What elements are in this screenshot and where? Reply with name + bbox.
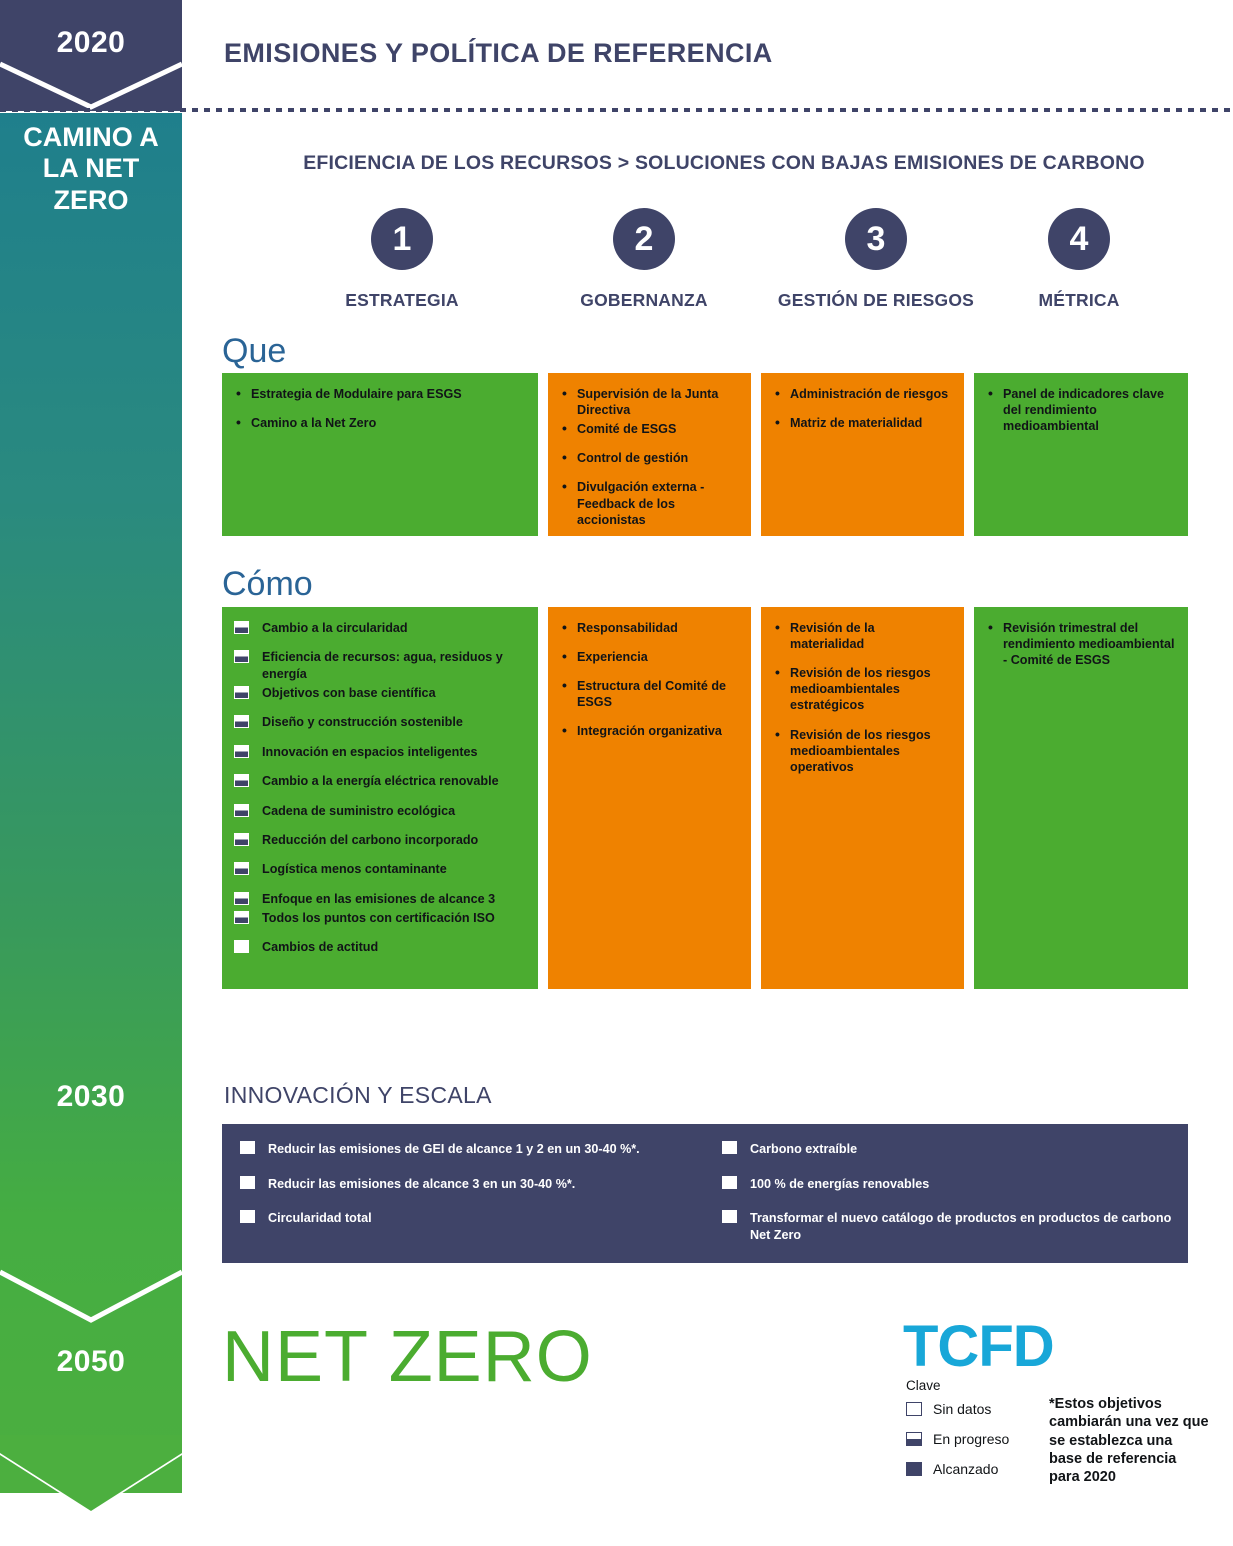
rail-title-line-1: CAMINO A xyxy=(0,122,182,153)
list-item-label: Eficiencia de recursos: agua, residuos y… xyxy=(262,650,503,680)
innovacion-list-left: Reducir las emisiones de GEI de alcance … xyxy=(240,1141,700,1227)
innovacion-column-right: Carbono extraíble 100 % de energías reno… xyxy=(722,1141,1172,1261)
list-item: Revisión de los riesgos medioambientales… xyxy=(773,727,952,775)
pillar-4-label: MÉTRICA xyxy=(997,290,1161,311)
list-item: 100 % de energías renovables xyxy=(722,1176,1172,1193)
list-item: Transformar el nuevo catálogo de product… xyxy=(722,1210,1172,1243)
pillar-3-number: 3 xyxy=(845,208,907,270)
list-item-label: Objetivos con base científica xyxy=(262,686,436,700)
checkbox-in-progress-icon xyxy=(234,774,249,787)
checkbox-no-data-icon xyxy=(906,1402,922,1416)
que-card-gestion-riesgos-list: Administración de riesgos Matriz de mate… xyxy=(773,386,952,431)
legend-row-alcanzado: Alcanzado xyxy=(906,1460,1036,1478)
timeline-rail: 2020 CAMINO A LA NET ZERO 2030 2050 xyxy=(0,0,182,1546)
list-item-label: Circularidad total xyxy=(268,1211,372,1225)
list-item-label: Enfoque en las emisiones de alcance 3 xyxy=(262,892,495,906)
legend-title: Clave xyxy=(906,1378,1036,1393)
pillar-3: 3 GESTIÓN DE RIESGOS xyxy=(771,208,981,311)
page-title: EMISIONES Y POLÍTICA DE REFERENCIA xyxy=(224,38,773,69)
net-zero-wordmark: NET ZERO xyxy=(222,1316,593,1398)
checkbox-in-progress-icon xyxy=(234,833,249,846)
checkbox-no-data-icon xyxy=(234,940,249,953)
list-item: Revisión de la materialidad xyxy=(773,620,952,652)
list-item-label: Cambios de actitud xyxy=(262,940,378,954)
pillar-1: 1 ESTRATEGIA xyxy=(320,208,484,311)
checkbox-no-data-icon xyxy=(240,1210,255,1223)
list-item-label: Todos los puntos con certificación ISO xyxy=(262,911,495,925)
pillar-3-label: GESTIÓN DE RIESGOS xyxy=(771,290,981,311)
rail-title-line-2: LA NET xyxy=(0,153,182,184)
list-item: Revisión de los riesgos medioambientales… xyxy=(773,665,952,713)
list-item: Supervisión de la Junta Directiva xyxy=(560,386,739,418)
list-item: Integración organizativa xyxy=(560,723,739,739)
checkbox-in-progress-icon xyxy=(906,1432,922,1446)
list-item: Reducir las emisiones de alcance 3 en un… xyxy=(240,1176,700,1193)
que-card-metrica: Panel de indicadores clave del rendimien… xyxy=(974,373,1188,536)
list-item: Objetivos con base científica xyxy=(234,685,526,701)
timeline-year-2050: 2050 xyxy=(0,1345,182,1379)
checkbox-no-data-icon xyxy=(240,1141,255,1154)
legend-label: Alcanzado xyxy=(933,1461,998,1477)
pillar-4: 4 MÉTRICA xyxy=(997,208,1161,311)
checkbox-no-data-icon xyxy=(722,1210,737,1223)
list-item-label: Carbono extraíble xyxy=(750,1142,857,1156)
list-item: Carbono extraíble xyxy=(722,1141,1172,1158)
checkbox-in-progress-icon xyxy=(234,745,249,758)
legend: Clave Sin datos En progreso Alcanzado xyxy=(906,1378,1036,1490)
pillar-1-label: ESTRATEGIA xyxy=(320,290,484,311)
checkbox-in-progress-icon xyxy=(234,650,249,663)
rail-arrow-tip xyxy=(0,1435,182,1545)
list-item-label: Cadena de suministro ecológica xyxy=(262,804,455,818)
timeline-year-2020: 2020 xyxy=(0,26,182,60)
list-item: Logística menos contaminante xyxy=(234,861,526,877)
list-item-label: Logística menos contaminante xyxy=(262,862,447,876)
list-item: Administración de riesgos xyxy=(773,386,952,402)
checkbox-in-progress-icon xyxy=(234,686,249,699)
checkbox-achieved-icon xyxy=(906,1462,922,1476)
section-heading-innovacion: INNOVACIÓN Y ESCALA xyxy=(224,1082,492,1109)
checkbox-no-data-icon xyxy=(722,1141,737,1154)
pillar-4-number: 4 xyxy=(1048,208,1110,270)
list-item: Diseño y construcción sostenible xyxy=(234,714,526,730)
timeline-year-2030: 2030 xyxy=(0,1080,182,1114)
list-item: Cadena de suministro ecológica xyxy=(234,803,526,819)
header-divider-dotted xyxy=(0,108,1233,113)
checkbox-in-progress-icon xyxy=(234,862,249,875)
innovacion-column-left: Reducir las emisiones de GEI de alcance … xyxy=(240,1141,700,1245)
que-card-estrategia: Estrategia de Modulaire para ESGS Camino… xyxy=(222,373,538,536)
list-item-label: Innovación en espacios inteligentes xyxy=(262,745,478,759)
pillar-2-number: 2 xyxy=(613,208,675,270)
checkbox-in-progress-icon xyxy=(234,911,249,924)
que-card-gobernanza-list: Supervisión de la Junta Directiva Comité… xyxy=(560,386,739,528)
list-item-label: Diseño y construcción sostenible xyxy=(262,715,463,729)
checkbox-in-progress-icon xyxy=(234,621,249,634)
como-card-metrica-list: Revisión trimestral del rendimiento medi… xyxy=(986,620,1176,668)
infographic-page: 2020 CAMINO A LA NET ZERO 2030 2050 EMIS… xyxy=(0,0,1233,1546)
section-heading-como: Cómo xyxy=(222,565,313,604)
list-item: Matriz de materialidad xyxy=(773,415,952,431)
como-card-estrategia-list: Cambio a la circularidad Eficiencia de r… xyxy=(234,620,526,956)
section-heading-que: Que xyxy=(222,332,286,371)
innovacion-panel: Reducir las emisiones de GEI de alcance … xyxy=(222,1124,1188,1263)
list-item: Enfoque en las emisiones de alcance 3 xyxy=(234,891,526,907)
legend-label: Sin datos xyxy=(933,1401,991,1417)
list-item: Responsabilidad xyxy=(560,620,739,636)
como-card-estrategia: Cambio a la circularidad Eficiencia de r… xyxy=(222,607,538,989)
innovacion-list-right: Carbono extraíble 100 % de energías reno… xyxy=(722,1141,1172,1243)
list-item: Control de gestión xyxy=(560,450,739,466)
checkbox-in-progress-icon xyxy=(234,715,249,728)
pillar-row: 1 ESTRATEGIA 2 GOBERNANZA 3 GESTIÓN DE R… xyxy=(222,208,1202,326)
list-item: Camino a la Net Zero xyxy=(234,415,526,431)
rail-title-line-3: ZERO xyxy=(0,185,182,216)
legend-row-sin-datos: Sin datos xyxy=(906,1400,1036,1418)
checkbox-no-data-icon xyxy=(240,1176,255,1189)
list-item: Comité de ESGS xyxy=(560,421,739,437)
checkbox-in-progress-icon xyxy=(234,892,249,905)
list-item-label: Cambio a la circularidad xyxy=(262,621,408,635)
timeline-rail-title: CAMINO A LA NET ZERO xyxy=(0,122,182,216)
pillar-1-number: 1 xyxy=(371,208,433,270)
legend-label: En progreso xyxy=(933,1431,1009,1447)
que-card-estrategia-list: Estrategia de Modulaire para ESGS Camino… xyxy=(234,386,526,431)
page-subtitle: EFICIENCIA DE LOS RECURSOS > SOLUCIONES … xyxy=(224,152,1224,175)
list-item: Divulgación externa - Feedback de los ac… xyxy=(560,479,739,527)
list-item-label: Reducir las emisiones de GEI de alcance … xyxy=(268,1142,640,1156)
list-item: Estrategia de Modulaire para ESGS xyxy=(234,386,526,402)
list-item: Todos los puntos con certificación ISO xyxy=(234,910,526,926)
checkbox-no-data-icon xyxy=(722,1176,737,1189)
pillar-2: 2 GOBERNANZA xyxy=(562,208,726,311)
list-item-label: Transformar el nuevo catálogo de product… xyxy=(750,1211,1171,1242)
que-card-gobernanza: Supervisión de la Junta Directiva Comité… xyxy=(548,373,751,536)
list-item: Cambio a la circularidad xyxy=(234,620,526,636)
list-item-label: Reducir las emisiones de alcance 3 en un… xyxy=(268,1177,575,1191)
list-item: Innovación en espacios inteligentes xyxy=(234,744,526,760)
como-card-gobernanza: Responsabilidad Experiencia Estructura d… xyxy=(548,607,751,989)
list-item: Cambio a la energía eléctrica renovable xyxy=(234,773,526,789)
como-card-gobernanza-list: Responsabilidad Experiencia Estructura d… xyxy=(560,620,739,740)
list-item: Reducción del carbono incorporado xyxy=(234,832,526,848)
como-card-gestion-riesgos: Revisión de la materialidad Revisión de … xyxy=(761,607,964,989)
list-item: Eficiencia de recursos: agua, residuos y… xyxy=(234,649,526,682)
que-card-metrica-list: Panel de indicadores clave del rendimien… xyxy=(986,386,1176,434)
checkbox-in-progress-icon xyxy=(234,804,249,817)
que-card-gestion-riesgos: Administración de riesgos Matriz de mate… xyxy=(761,373,964,536)
legend-row-en-progreso: En progreso xyxy=(906,1430,1036,1448)
list-item-label: Cambio a la energía eléctrica renovable xyxy=(262,774,499,788)
list-item: Cambios de actitud xyxy=(234,939,526,955)
chevron-down-icon-2050 xyxy=(0,1262,182,1342)
list-item: Circularidad total xyxy=(240,1210,700,1227)
list-item-label: 100 % de energías renovables xyxy=(750,1177,929,1191)
como-card-gestion-riesgos-list: Revisión de la materialidad Revisión de … xyxy=(773,620,952,775)
list-item: Estructura del Comité de ESGS xyxy=(560,678,739,710)
list-item: Revisión trimestral del rendimiento medi… xyxy=(986,620,1176,668)
pillar-2-label: GOBERNANZA xyxy=(562,290,726,311)
list-item-label: Reducción del carbono incorporado xyxy=(262,833,478,847)
list-item: Panel de indicadores clave del rendimien… xyxy=(986,386,1176,434)
footnote: *Estos objetivos cambiarán una vez que s… xyxy=(1049,1395,1209,1486)
como-card-metrica: Revisión trimestral del rendimiento medi… xyxy=(974,607,1188,989)
list-item: Reducir las emisiones de GEI de alcance … xyxy=(240,1141,700,1158)
list-item: Experiencia xyxy=(560,649,739,665)
tcfd-logo: TCFD xyxy=(903,1318,1054,1376)
